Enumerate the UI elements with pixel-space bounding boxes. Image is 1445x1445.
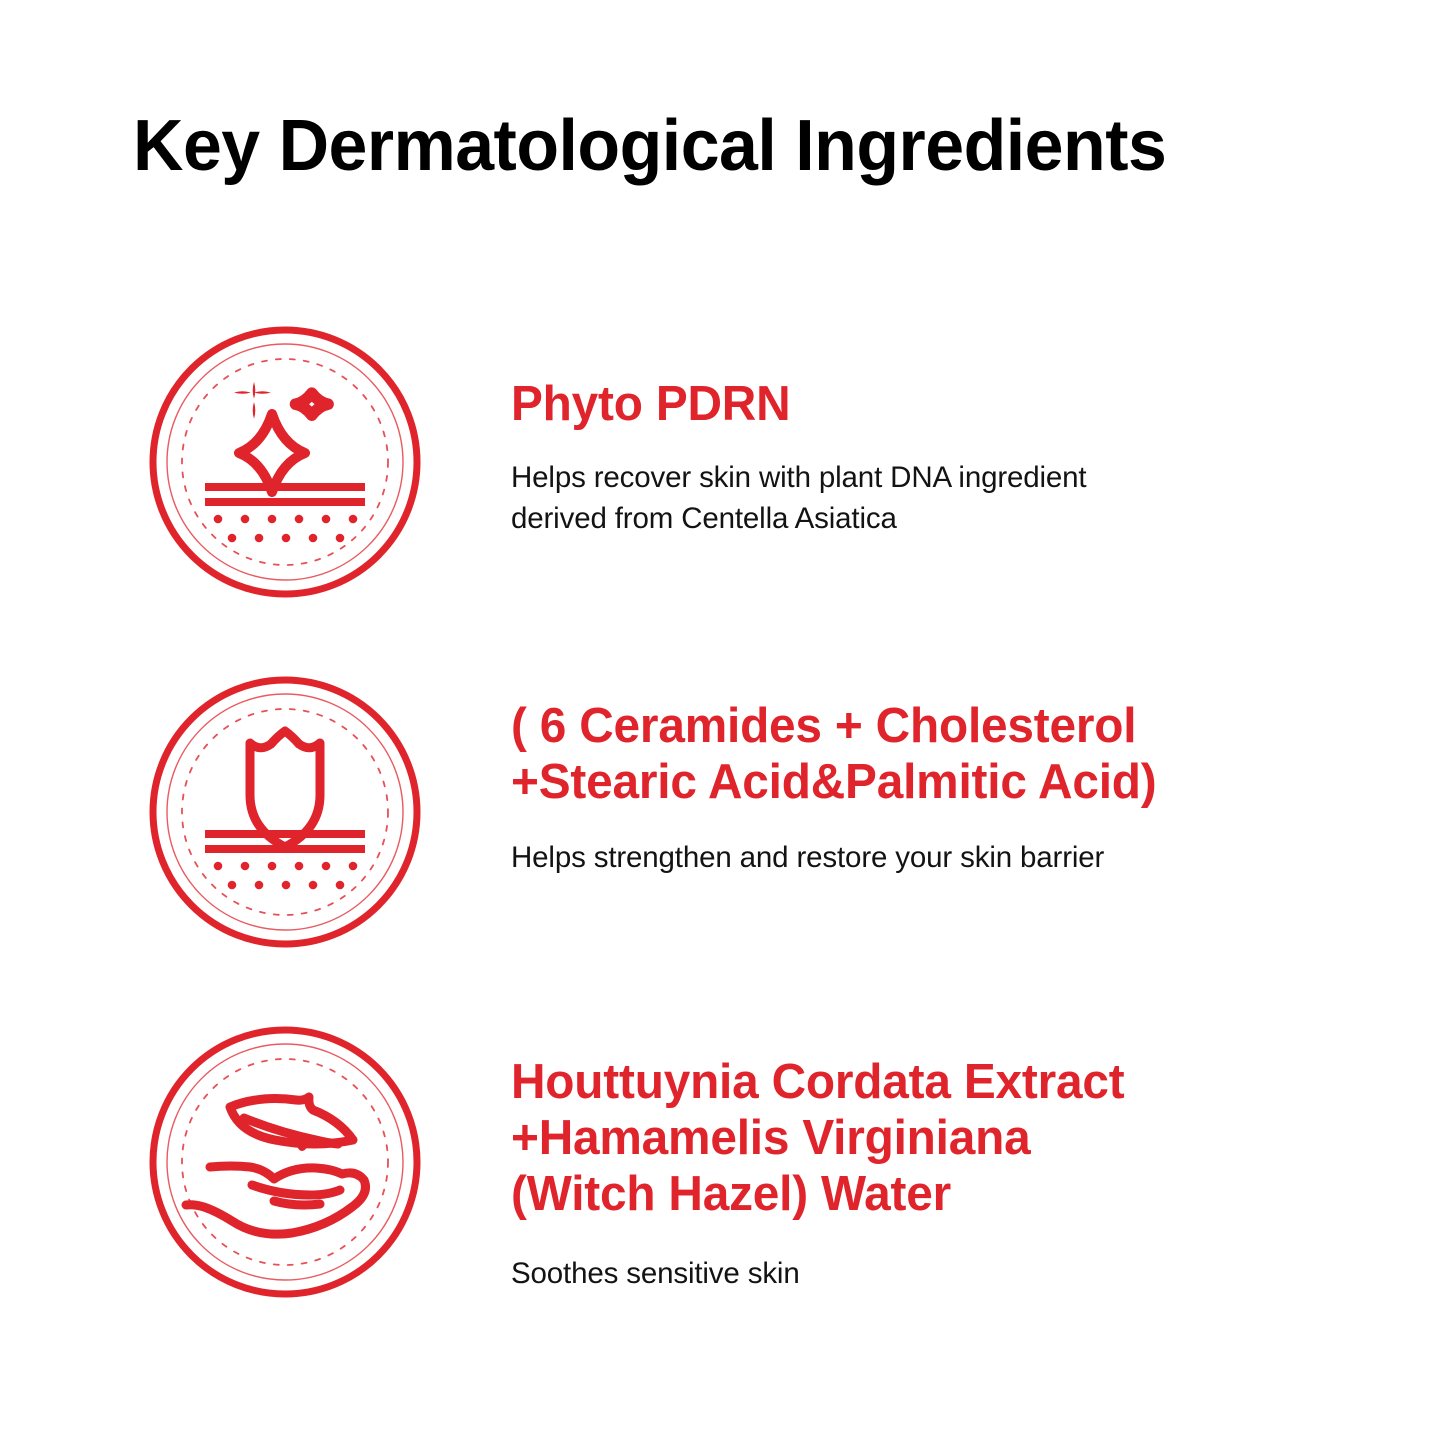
ingredient-heading: ( 6 Ceramides + Cholesterol +Stearic Aci… bbox=[511, 699, 1330, 811]
ingredient-heading: Houttuynia Cordata Extract +Hamamelis Vi… bbox=[511, 1055, 1330, 1223]
ingredients-infographic: Key Dermatological Ingredients bbox=[0, 0, 1445, 1445]
ingredient-description: Helps recover skin with plant DNA ingred… bbox=[511, 457, 1351, 540]
ingredient-text: ( 6 Ceramides + Cholesterol +Stearic Aci… bbox=[511, 699, 1351, 878]
page-title: Key Dermatological Ingredients bbox=[133, 108, 1166, 184]
ingredient-text: Houttuynia Cordata Extract +Hamamelis Vi… bbox=[511, 1055, 1351, 1294]
ingredient-description: Soothes sensitive skin bbox=[511, 1253, 1351, 1294]
shield-skin-barrier-icon bbox=[148, 675, 422, 949]
ingredient-heading: Phyto PDRN bbox=[511, 377, 1330, 433]
sparkle-skin-layers-icon bbox=[148, 325, 422, 599]
ingredient-text: Phyto PDRN Helps recover skin with plant… bbox=[511, 377, 1351, 539]
ingredient-description: Helps strengthen and restore your skin b… bbox=[511, 837, 1351, 878]
leaf-in-hand-icon bbox=[148, 1025, 422, 1299]
